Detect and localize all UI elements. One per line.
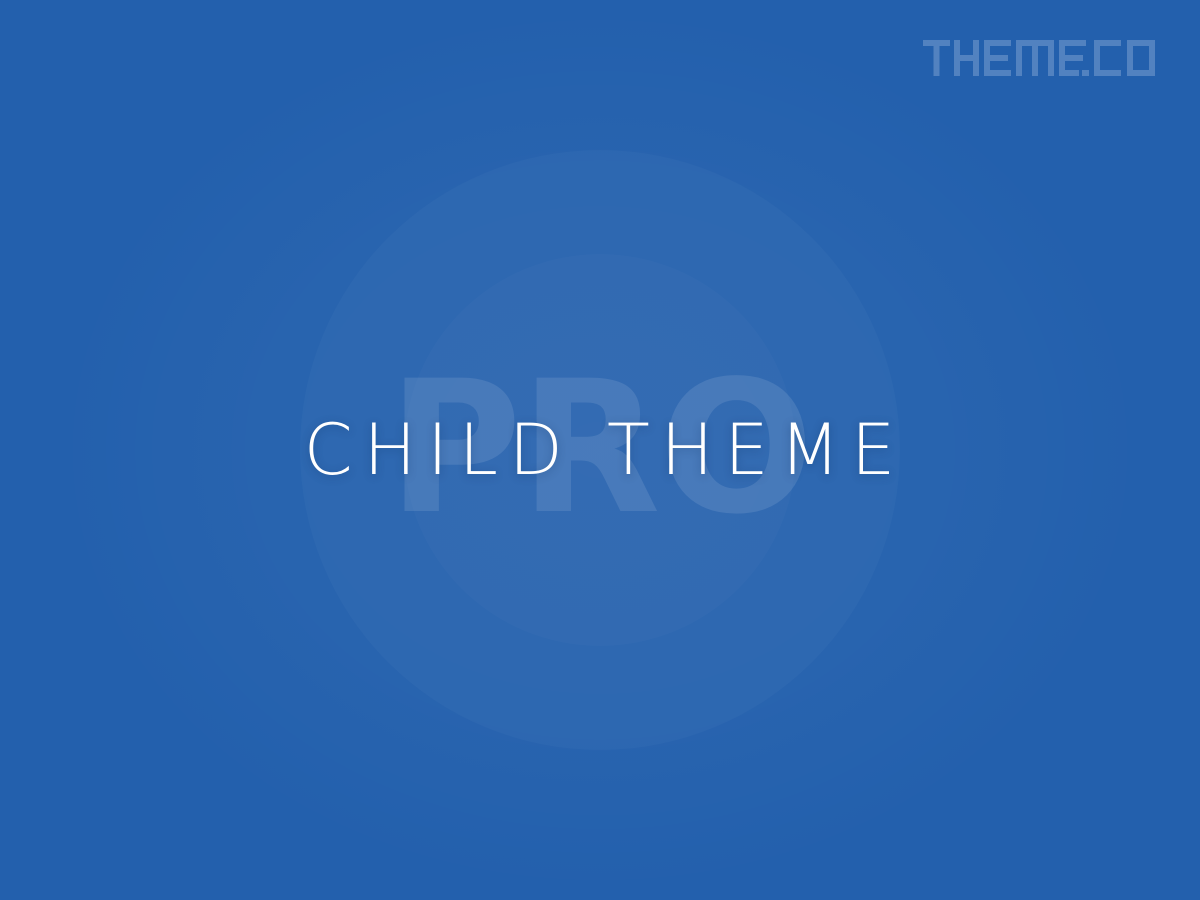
headline-container: CHILD THEME [0, 0, 1200, 900]
slide-canvas: PRO CHILD THEME THEME.CO [0, 0, 1200, 900]
themeco-logo: THEME.CO [923, 40, 1155, 76]
page-title: CHILD THEME [304, 415, 907, 485]
